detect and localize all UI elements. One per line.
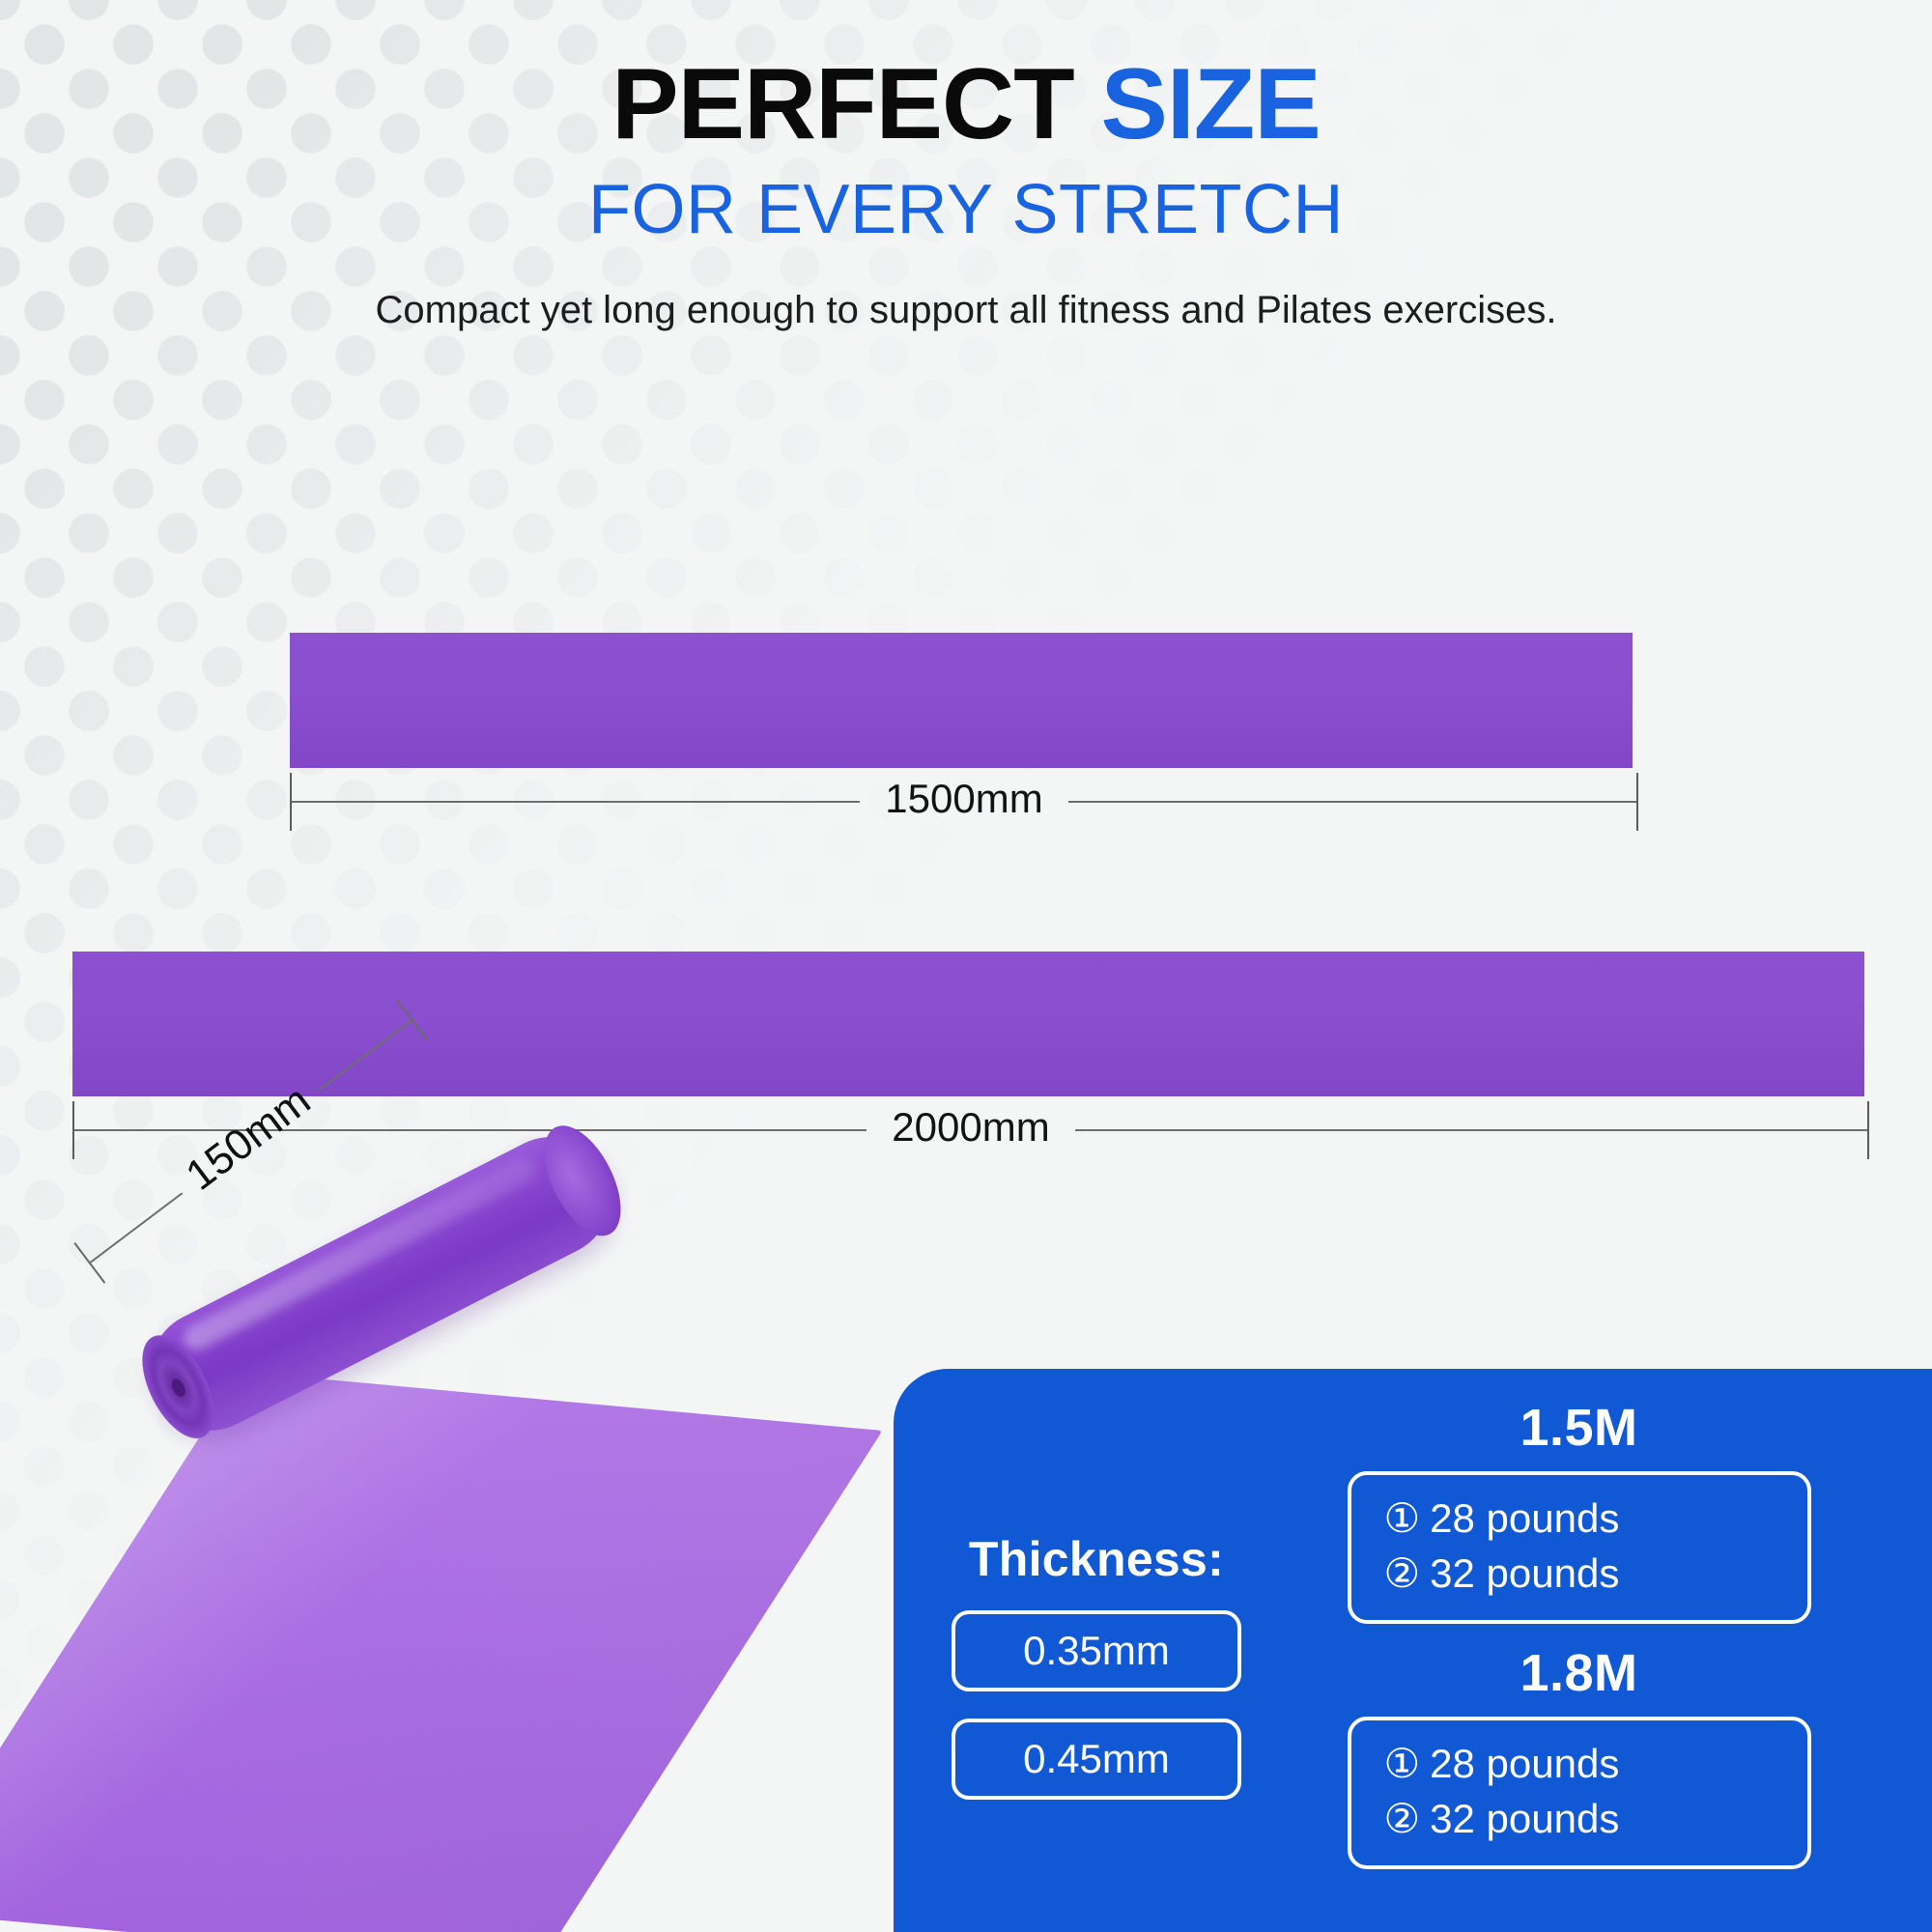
infographic-page: PERFECT SIZE FOR EVERY STRETCH Compact y… — [0, 0, 1932, 1932]
dimension-rule-left — [292, 801, 860, 803]
length-row-text: 28 pounds — [1430, 1495, 1619, 1541]
circled-number-icon: ② — [1384, 1796, 1421, 1841]
length-row: ①28 pounds — [1384, 1491, 1775, 1546]
dimension-rule-right — [1075, 1129, 1867, 1131]
thickness-section: Thickness: 0.35mm 0.45mm — [894, 1369, 1280, 1827]
length-row-text: 32 pounds — [1430, 1796, 1619, 1841]
page-title-primary: PERFECT — [611, 48, 1100, 160]
page-description: Compact yet long enough to support all f… — [0, 286, 1932, 335]
thickness-option-1[interactable]: 0.35mm — [952, 1610, 1241, 1691]
dimension-rule-left — [74, 1129, 867, 1131]
length-row: ②32 pounds — [1384, 1546, 1775, 1601]
length-row-text: 32 pounds — [1430, 1550, 1619, 1596]
length-title-1-8m: 1.8M — [1280, 1643, 1878, 1703]
band-roll-core — [128, 1324, 228, 1450]
band-sheet — [0, 1372, 883, 1932]
length-box-1-8m: ①28 pounds ②32 pounds — [1348, 1717, 1811, 1869]
header-block: PERFECT SIZE FOR EVERY STRETCH Compact y… — [0, 50, 1932, 335]
circled-number-icon: ① — [1384, 1741, 1421, 1786]
dimension-cap-right — [1867, 1101, 1869, 1159]
dimension-label-2000: 2000mm — [867, 1104, 1074, 1151]
length-group-1-5m: 1.5M ①28 pounds ②32 pounds — [1280, 1398, 1878, 1624]
length-group-1-8m: 1.8M ①28 pounds ②32 pounds — [1280, 1643, 1878, 1869]
dimension-line-1500: 1500mm — [290, 773, 1638, 831]
thickness-label: Thickness: — [913, 1531, 1280, 1587]
length-sections: 1.5M ①28 pounds ②32 pounds 1.8M ①28 poun… — [1280, 1369, 1932, 1889]
band-sheet-shading — [0, 1372, 883, 1932]
length-row-text: 28 pounds — [1430, 1741, 1619, 1786]
resistance-band-1500 — [290, 633, 1633, 768]
dimension-line-2000: 2000mm — [72, 1101, 1869, 1159]
thickness-option-2[interactable]: 0.45mm — [952, 1719, 1241, 1800]
rolled-band-photo — [97, 1203, 860, 1869]
page-title: PERFECT SIZE — [0, 50, 1932, 158]
length-row: ②32 pounds — [1384, 1791, 1775, 1846]
length-row: ①28 pounds — [1384, 1736, 1775, 1791]
page-title-accent: SIZE — [1101, 48, 1321, 160]
spec-panel: Thickness: 0.35mm 0.45mm 1.5M ①28 pounds… — [894, 1369, 1932, 1932]
dimension-cap-start — [73, 1242, 105, 1284]
dimension-rule-right — [1068, 801, 1636, 803]
dimension-cap-right — [1636, 773, 1638, 831]
circled-number-icon: ② — [1384, 1550, 1421, 1596]
dimension-label-1500: 1500mm — [860, 776, 1067, 822]
length-box-1-5m: ①28 pounds ②32 pounds — [1348, 1471, 1811, 1624]
circled-number-icon: ① — [1384, 1495, 1421, 1541]
length-title-1-5m: 1.5M — [1280, 1398, 1878, 1458]
page-subtitle: FOR EVERY STRETCH — [0, 172, 1932, 248]
